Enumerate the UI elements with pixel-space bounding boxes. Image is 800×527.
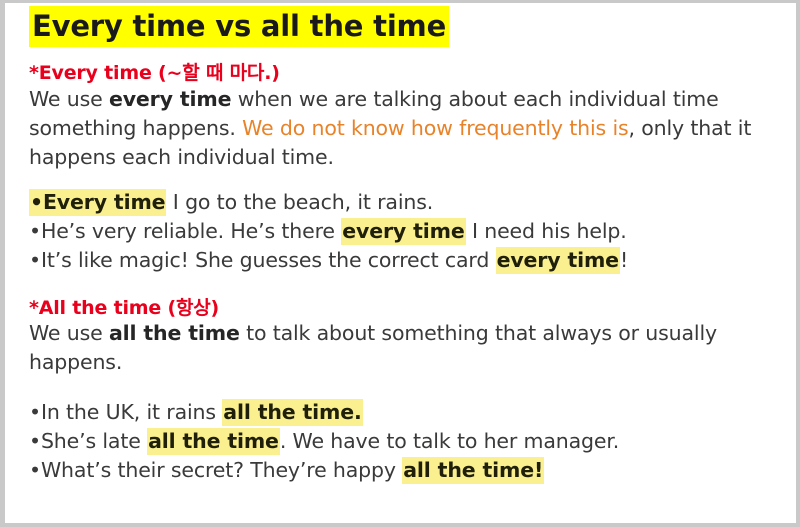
paragraph-text-part-1: We use xyxy=(29,87,109,111)
slide-canvas: Every time vs all the time *Every time (… xyxy=(5,3,796,523)
list-item: •She’s late all the time. We have to tal… xyxy=(29,427,786,456)
highlight-all-the-time-1: all the time. xyxy=(222,399,362,426)
list-item: •In the UK, it rains all the time. xyxy=(29,398,786,427)
section-heading-all-the-time: *All the time (항상) xyxy=(29,298,786,320)
bullet-tail-3: ! xyxy=(620,248,628,272)
bullet-lead-3: •It’s like magic! She guesses the correc… xyxy=(29,248,496,272)
highlight-every-time-3: every time xyxy=(496,247,620,274)
list-item: •He’s very reliable. He’s there every ti… xyxy=(29,217,786,246)
bullet-lead-4: •In the UK, it rains xyxy=(29,400,222,424)
bullet-lead-2: •He’s very reliable. He’s there xyxy=(29,219,341,243)
bullet-list-all-the-time: •In the UK, it rains all the time. •She’… xyxy=(29,398,786,485)
list-item: •It’s like magic! She guesses the correc… xyxy=(29,246,786,275)
page-title: Every time vs all the time xyxy=(29,12,786,41)
paragraph-orange-emphasis: We do not know how frequently this is xyxy=(242,116,628,140)
paragraph2-bold-all-the-time: all the time xyxy=(109,321,240,345)
section-paragraph-every-time: We use every time when we are talking ab… xyxy=(29,85,786,172)
paragraph2-text-part-1: We use xyxy=(29,321,109,345)
bullet-lead-6: •What’s their secret? They’re happy xyxy=(29,458,402,482)
highlight-all-the-time-3: all the time! xyxy=(402,457,544,484)
highlight-every-time-1: •Every time xyxy=(29,189,166,216)
bullet-list-every-time: •Every time I go to the beach, it rains.… xyxy=(29,188,786,275)
spacer-before-bullets-2 xyxy=(29,378,786,398)
section-heading-every-time: *Every time (~할 때 마다.) xyxy=(29,63,786,85)
page-title-text: Every time vs all the time xyxy=(29,6,449,47)
section-paragraph-all-the-time: We use all the time to talk about someth… xyxy=(29,319,786,377)
bullet-tail-2: I need his help. xyxy=(466,219,627,243)
slide-content: Every time vs all the time *Every time (… xyxy=(5,3,796,485)
list-item: •Every time I go to the beach, it rains. xyxy=(29,188,786,217)
spacer-between-sections xyxy=(29,276,786,298)
paragraph-bold-every-time: every time xyxy=(109,87,231,111)
list-item: •What’s their secret? They’re happy all … xyxy=(29,456,786,485)
bullet-lead-5: •She’s late xyxy=(29,429,147,453)
highlight-every-time-2: every time xyxy=(341,218,465,245)
bullet-tail-5: . We have to talk to her manager. xyxy=(280,429,619,453)
bullet-tail-1: I go to the beach, it rains. xyxy=(166,190,433,214)
highlight-all-the-time-2: all the time xyxy=(147,428,280,455)
spacer-before-bullets-1 xyxy=(29,172,786,188)
